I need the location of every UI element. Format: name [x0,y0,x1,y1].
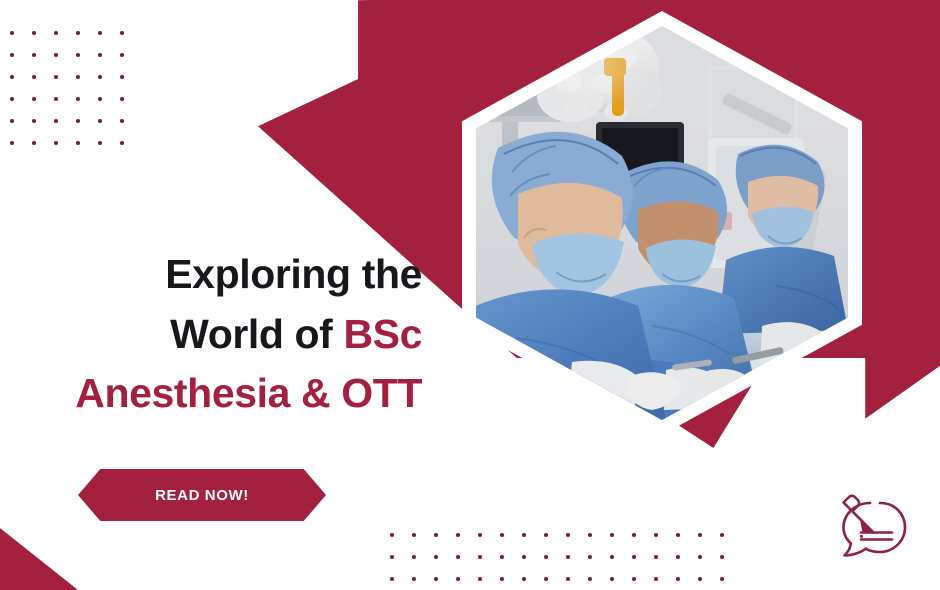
dot [654,577,676,590]
dot [32,141,54,163]
dot [588,533,610,555]
dot [720,555,742,577]
corner-triangle-decoration [0,528,78,590]
dot [610,577,632,590]
dot [120,75,142,97]
dot [434,577,456,590]
dot [98,53,120,75]
dot [98,31,120,53]
operating-theatre-photo [476,26,848,420]
dot [10,31,32,53]
dot [522,555,544,577]
dot [76,75,98,97]
dot [500,533,522,555]
dot [720,577,742,590]
dot [522,533,544,555]
dot [566,577,588,590]
dot [544,577,566,590]
dot [654,555,676,577]
dot [98,141,120,163]
dot [434,555,456,577]
dot [120,53,142,75]
dot [654,533,676,555]
dot [10,75,32,97]
dot [120,31,142,53]
dot [456,555,478,577]
dot [698,555,720,577]
dot [32,97,54,119]
dot [54,75,76,97]
dot [10,141,32,163]
dot [610,533,632,555]
dot [632,577,654,590]
dot [500,555,522,577]
read-now-button-label: READ NOW! [155,487,249,504]
dot [544,555,566,577]
dot [98,97,120,119]
dot [32,119,54,141]
dot [566,533,588,555]
dot [54,53,76,75]
read-now-button[interactable]: READ NOW! [78,469,326,521]
dot [54,141,76,163]
dot [698,577,720,590]
dot [588,555,610,577]
dot [76,31,98,53]
dot-grid-top-left [10,31,142,163]
dot [10,119,32,141]
dot [566,555,588,577]
dot [500,577,522,590]
dot [478,533,500,555]
dot [32,53,54,75]
dot [120,119,142,141]
dot [120,141,142,163]
dot [588,577,610,590]
dot [676,577,698,590]
headline-line-3-accent: Anesthesia & OTT [75,370,422,416]
dot [456,533,478,555]
dot [390,577,412,590]
dot [120,97,142,119]
dot [632,555,654,577]
dot [544,533,566,555]
headline-line-2-plain: World of [170,311,343,357]
dot [98,75,120,97]
dot [10,97,32,119]
dot [32,31,54,53]
dot [98,119,120,141]
dot [456,577,478,590]
dot [390,555,412,577]
dot [32,75,54,97]
dot [478,555,500,577]
dot [76,53,98,75]
dot [10,53,32,75]
dot [676,533,698,555]
speech-bubble-pencil-icon [833,492,909,564]
dot [676,555,698,577]
photo-illustration [476,26,848,420]
dot [720,533,742,555]
dot [412,577,434,590]
dot [522,577,544,590]
page-title: Exploring the World of BSc Anesthesia & … [0,245,422,422]
headline-line-1: Exploring the [165,251,422,297]
dot [412,533,434,555]
dot [478,577,500,590]
dot [610,555,632,577]
dot [632,533,654,555]
dot [76,119,98,141]
dot [434,533,456,555]
dot [76,141,98,163]
blog-banner: Exploring the World of BSc Anesthesia & … [0,0,940,590]
dot [54,119,76,141]
dot [54,31,76,53]
dot [390,533,412,555]
dot [54,97,76,119]
dot [76,97,98,119]
dot [698,533,720,555]
dot-grid-bottom [390,533,742,590]
headline-line-2-accent: BSc [343,311,422,357]
dot [412,555,434,577]
